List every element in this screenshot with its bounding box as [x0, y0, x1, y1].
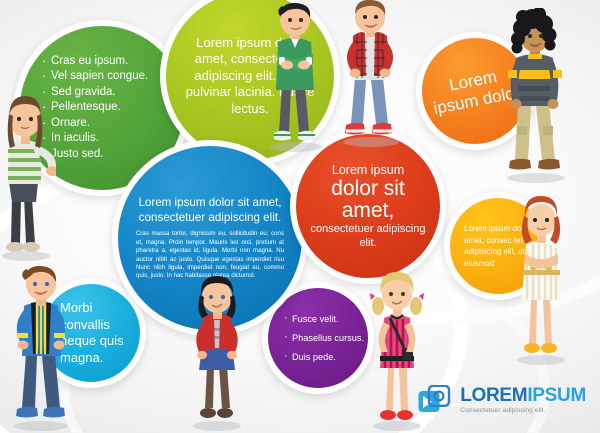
girl-black-bob-red-jacket	[186, 272, 248, 432]
logo-tagline: Consectetuer adipiscing elit.	[460, 408, 586, 415]
logo-wordmark: LOREMIPSUM	[460, 386, 586, 405]
green-bullet-list: Cras eu ipsum. Vel sapien congue. Sed gr…	[42, 54, 178, 162]
red-bubble-line-2: dolor sit amet,	[304, 178, 432, 222]
list-item: Cras eu ipsum.	[42, 54, 178, 69]
poster-canvas: Cras eu ipsum. Vel sapien congue. Sed gr…	[0, 0, 600, 433]
loremipsum-logo[interactable]: LOREMIPSUM Consectetuer adipiscing elit.	[418, 385, 586, 415]
boy-curly-hair-striped-sweater	[498, 8, 572, 184]
list-item: Phasellus cursus.	[284, 329, 364, 348]
logo-mark-icon	[418, 385, 452, 415]
purple-bullet-list: Fusce velit. Phasellus cursus. Duis pede…	[284, 310, 364, 367]
logo-word-a: LOREM	[460, 385, 527, 406]
list-item: Pellentesque.	[42, 100, 178, 115]
girl-green-striped-sweater	[0, 86, 56, 261]
boy-green-jacket	[262, 2, 328, 152]
red-bubble-line-1: Lorem ipsum	[304, 163, 432, 178]
red-bubble-line-3: consectetuer adipiscing elit.	[304, 222, 432, 250]
list-item: Fusce velit.	[284, 310, 364, 329]
girl-redhead-striped-dress	[510, 188, 572, 366]
list-item: Sed gravida.	[42, 85, 178, 100]
boy-red-plaid-shirt	[335, 0, 405, 148]
list-item: Ornare.	[42, 116, 178, 131]
list-item: Vel sapien congue.	[42, 69, 178, 84]
boy-blue-jacket	[6, 262, 76, 432]
blue-bubble-heading: Lorem ipsum dolor sit amet, consectetuer…	[136, 195, 284, 225]
logo-word-b: IPSUM	[527, 385, 586, 406]
list-item: Duis pede.	[284, 348, 364, 367]
list-item: In iaculis.	[42, 131, 178, 146]
